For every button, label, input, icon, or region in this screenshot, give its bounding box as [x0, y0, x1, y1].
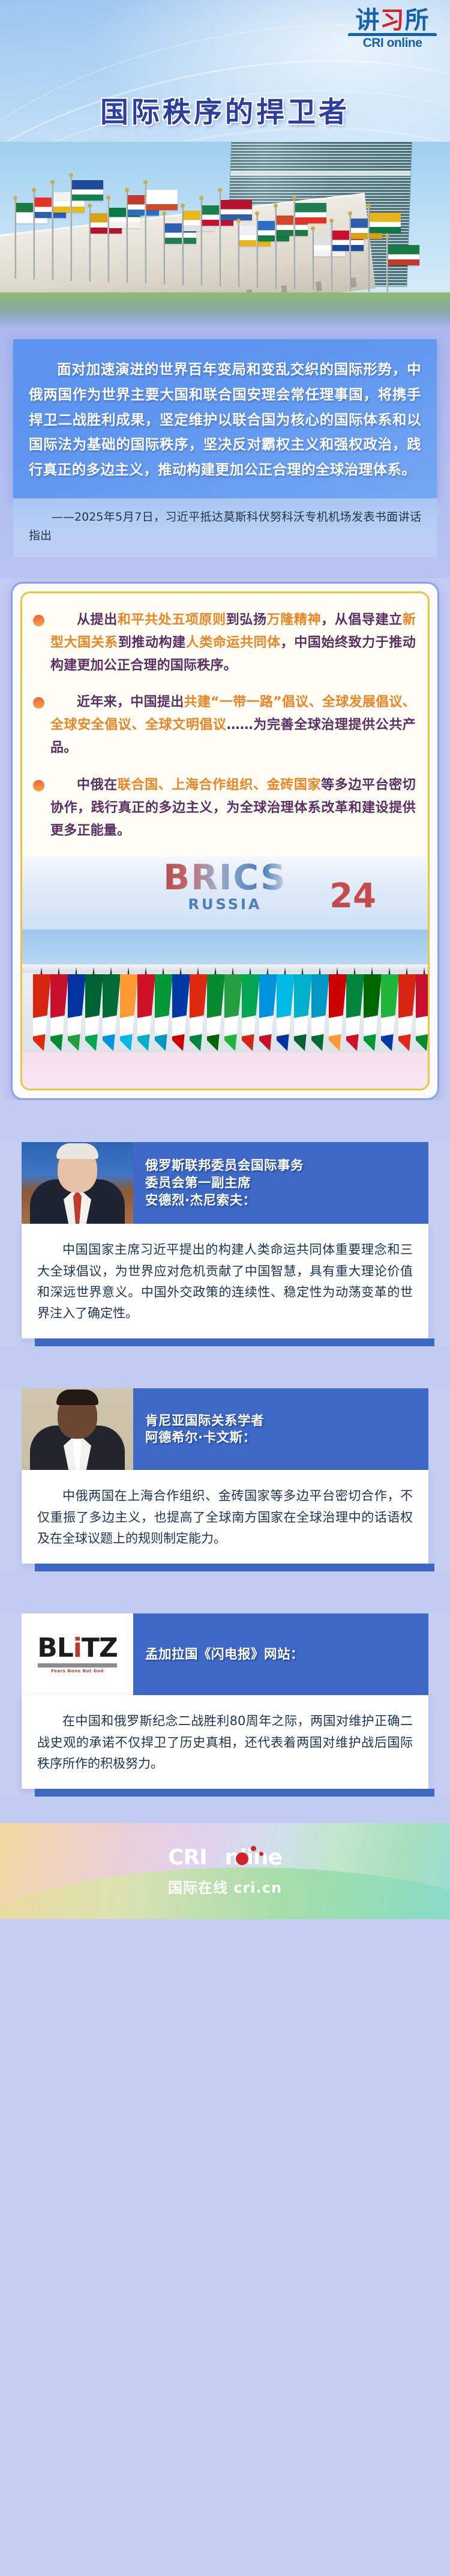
body-phrase: 近年来，中国提出 [77, 695, 184, 710]
speaker-quote-card: 中国国家主席习近平提出的构建人类命运共同体重要理念和三大全球倡议，为世界应对危机… [22, 1224, 428, 1338]
spacer [0, 1571, 450, 1613]
brics-logo: BRICS RUSSIA 24 [22, 856, 428, 930]
member-state-flags [0, 153, 450, 303]
speaker-quote-text: 中俄两国在上海合作组织、金砖国家等多边平台密切合作，不仅重振了多边主义，也提高了… [37, 1486, 413, 1549]
spacer [0, 1346, 450, 1388]
flag-pole [89, 207, 91, 282]
blitz-rule [38, 1663, 117, 1667]
cri-online-logo[interactable]: CRInline 国际在线 cri.cn [0, 1847, 450, 1897]
body-phrase: 到推动构建 [118, 635, 186, 650]
page-title: 国际秩序的捍卫者 [0, 89, 450, 130]
bullet-item: 近年来，中国提出共建“一带一路”倡议、全球发展倡议、全球安全倡议、全球文明倡议…… [33, 691, 416, 759]
country-flag [221, 200, 252, 220]
bullet-text: 中俄在联合国、上海合作组织、金砖国家等多边平台密切协作，践行真正的多边主义，为全… [50, 774, 416, 842]
infographic-page: 讲习所 CRI online 国际秩序的捍卫者 面对加速演进的世界百年变局和变乱… [0, 0, 450, 1919]
spacer [0, 1100, 450, 1142]
speaker-title-line: 阿德希尔·卡文斯： [145, 1430, 418, 1447]
country-flag [295, 203, 326, 223]
flag-pole [107, 199, 109, 282]
summit-country-flag [416, 974, 428, 1051]
cri-wordmark: CRI [168, 1845, 207, 1870]
speaker-quotes: 俄罗斯联邦委员会国际事务委员会第一副主席安德烈·杰尼索夫：中国国家主席习近平提出… [0, 1142, 450, 1823]
bubble-icon [236, 1852, 248, 1865]
body-phrase: 从提出 [77, 612, 118, 627]
flag-pole [219, 192, 221, 286]
speaker-header: 俄罗斯联邦委员会国际事务委员会第一副主席安德烈·杰尼索夫： [22, 1142, 428, 1224]
flag-pole [275, 207, 277, 289]
quote-attribution-band: ——2025年5月7日，习近平抵达莫斯科伏努科沃专机机场发表书面讲话指出 [13, 498, 437, 557]
speaker-header: BLiTZFears None But God孟加拉国《闪电报》网站： [22, 1613, 428, 1695]
highlighted-phrase: 人类命运共同体 [186, 635, 281, 650]
quote-card: 面对加速演进的世界百年变局和变乱交织的国际形势，中俄两国作为世界主要大国和联合国… [13, 339, 437, 498]
highlighted-phrase: 万隆精神 [267, 612, 321, 627]
bullet-dot-icon [33, 697, 44, 709]
bullet-item: 从提出和平共处五项原则到弘扬万隆精神，从倡导建立新型大国关系到推动构建人类命运共… [33, 609, 416, 677]
xi-quote-section: 面对加速演进的世界百年变局和变乱交织的国际形势，中俄两国作为世界主要大国和联合国… [0, 327, 450, 578]
country-flag [388, 245, 419, 265]
speaker-title-line: 孟加拉国《闪电报》网站： [145, 1646, 418, 1664]
flag-pole [52, 184, 53, 280]
speaker-title-line: 俄罗斯联邦委员会国际事务 [145, 1158, 418, 1175]
speaker-quote-text: 中国国家主席习近平提出的构建人类命运共同体重要理念和三大全球倡议，为世界应对危机… [37, 1239, 413, 1324]
bubble-icon [251, 1846, 256, 1851]
brand-logo-chinese: 讲习所 [344, 8, 440, 32]
country-flag [72, 180, 103, 201]
hero-banner: 讲习所 CRI online 国际秩序的捍卫者 [0, 0, 450, 327]
body-phrase: 中俄在 [77, 778, 118, 793]
brand-logo-sub: CRI online [344, 37, 440, 49]
speaker-accent-bar [35, 1564, 434, 1571]
flag-pole [349, 215, 351, 292]
body-phrase: 到弘扬 [226, 612, 267, 627]
banner-backdrop [22, 930, 428, 964]
bullet-dot-icon [33, 780, 44, 791]
blitz-wordmark: BLiTZ [37, 1635, 118, 1661]
flag-pole [14, 199, 16, 279]
cri-chinese-name: 国际在线 [168, 1879, 228, 1896]
cri-url: cri.cn [233, 1879, 282, 1896]
speaker-title-line: 委员会第一副主席 [145, 1175, 418, 1193]
flag-pole [368, 207, 370, 292]
speaker-accent-bar [35, 1789, 434, 1797]
speaker-title-line: 肯尼亚国际关系学者 [145, 1413, 418, 1430]
speaker-quote-card: 中俄两国在上海合作组织、金砖国家等多边平台密切合作，不仅重振了多边主义，也提高了… [22, 1470, 428, 1564]
speaker-title-banner: 肯尼亚国际关系学者阿德希尔·卡文斯： [133, 1388, 428, 1470]
flag-pole [182, 207, 184, 285]
points-card: 从提出和平共处五项原则到弘扬万隆精神，从倡导建立新型大国关系到推动构建人类命运共… [11, 582, 439, 1100]
flag-pole [145, 184, 146, 283]
flag-pole [331, 222, 332, 291]
blitz-tagline: Fears None But God [51, 1669, 104, 1673]
points-section: 从提出和平共处五项原则到弘扬万隆精神，从倡导建立新型大国关系到推动构建人类命运共… [0, 578, 450, 1100]
speaker-title-line: 安德烈·杰尼索夫： [145, 1193, 418, 1210]
hero-fade [0, 289, 450, 327]
flag-pole [70, 177, 72, 281]
spacer [0, 1797, 450, 1823]
flag-pole [386, 237, 388, 292]
speaker-block-andrei-denisov: 俄罗斯联邦委员会国际事务委员会第一副主席安德烈·杰尼索夫：中国国家主席习近平提出… [22, 1142, 428, 1346]
flag-pole [312, 230, 314, 290]
bullet-text: 近年来，中国提出共建“一带一路”倡议、全球发展倡议、全球安全倡议、全球文明倡议…… [50, 691, 416, 759]
un-headquarters-photo [0, 142, 450, 327]
flag-pole [238, 222, 239, 287]
speaker-title-banner: 俄罗斯联邦委员会国际事务委员会第一副主席安德烈·杰尼索夫： [133, 1142, 428, 1224]
speaker-portrait [22, 1388, 133, 1470]
card-footer-gradient [22, 1053, 428, 1089]
rail [22, 964, 428, 973]
quote-attribution: ——2025年5月7日，习近平抵达莫斯科伏努科沃专机机场发表书面讲话指出 [29, 508, 421, 545]
speaker-portrait: BLiTZFears None But God [22, 1613, 133, 1695]
flag-pole [256, 215, 258, 288]
flag-pole [33, 192, 35, 279]
bullet-list: 从提出和平共处五项原则到弘扬万隆精神，从倡导建立新型大国关系到推动构建人类命运共… [22, 593, 428, 859]
flag-pole [293, 199, 295, 289]
speaker-block-blitz-bangladesh: BLiTZFears None But God孟加拉国《闪电报》网站：在中国和俄… [22, 1613, 428, 1797]
bullet-item: 中俄在联合国、上海合作组织、金砖国家等多边平台密切协作，践行真正的多边主义，为全… [33, 774, 416, 842]
quote-text: 面对加速演进的世界百年变局和变乱交织的国际形势，中俄两国作为世界主要大国和联合国… [29, 357, 421, 483]
spacer [0, 557, 450, 578]
portrait-hair [56, 1143, 98, 1159]
speaker-quote-text: 在中国和俄罗斯纪念二战胜利80周年之际，两国对维护正确二战史观的承诺不仅捍卫了历… [37, 1711, 413, 1774]
brics-subtitle: RUSSIA [163, 897, 287, 912]
body-phrase: ，从倡导建立 [321, 612, 403, 627]
speaker-accent-bar [35, 1338, 434, 1346]
brics-year: 24 [329, 877, 376, 916]
flag-pole [126, 192, 128, 283]
speaker-header: 肯尼亚国际关系学者阿德希尔·卡文斯： [22, 1388, 428, 1470]
portrait-hair [56, 1389, 98, 1405]
brand-logo[interactable]: 讲习所 CRI online [344, 8, 440, 49]
country-flag [370, 213, 401, 233]
site-footer: CRInline 国际在线 cri.cn [0, 1823, 450, 1919]
flag-pole [163, 215, 165, 285]
country-flag [146, 190, 178, 210]
brics-summit-flags-photo [22, 930, 428, 1053]
flag-pole [200, 199, 202, 286]
bullet-dot-icon [33, 615, 44, 626]
speaker-quote-card: 在中国和俄罗斯纪念二战胜利80周年之际，两国对维护正确二战史观的承诺不仅捍卫了历… [22, 1695, 428, 1789]
brics-wordmark: BRICS [163, 860, 287, 895]
bullet-text: 从提出和平共处五项原则到弘扬万隆精神，从倡导建立新型大国关系到推动构建人类命运共… [50, 609, 416, 677]
speaker-portrait [22, 1142, 133, 1224]
speaker-block-adhere-cavince: 肯尼亚国际关系学者阿德希尔·卡文斯：中俄两国在上海合作组织、金砖国家等多边平台密… [22, 1388, 428, 1571]
highlighted-phrase: 联合国、上海合作组织、金砖国家 [118, 778, 321, 793]
speaker-title-banner: 孟加拉国《闪电报》网站： [133, 1613, 428, 1695]
highlighted-phrase: 和平共处五项原则 [118, 612, 226, 627]
